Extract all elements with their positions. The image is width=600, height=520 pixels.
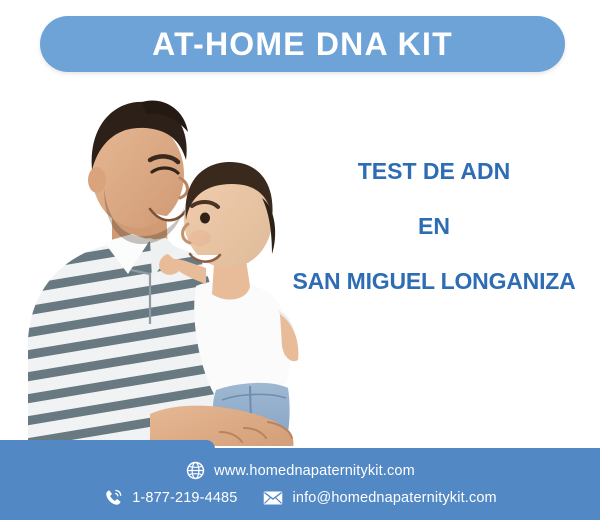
phone-icon xyxy=(103,488,123,508)
dna-test-promo-poster: AT-HOME DNA KIT xyxy=(0,0,600,520)
envelope-icon xyxy=(263,488,283,508)
footer-website-row: www.homednapaternitykit.com xyxy=(185,461,415,481)
headline-line-3-location: SAN MIGUEL LONGANIZA xyxy=(272,270,596,293)
headline-line-1: TEST DE ADN xyxy=(272,160,596,183)
email-label: info@homednapaternitykit.com xyxy=(292,490,496,506)
header-banner-pill: AT-HOME DNA KIT xyxy=(40,16,565,72)
email-item[interactable]: info@homednapaternitykit.com xyxy=(263,488,496,508)
headline-block: TEST DE ADN EN SAN MIGUEL LONGANIZA xyxy=(272,160,596,293)
globe-icon xyxy=(185,461,205,481)
header-title: AT-HOME DNA KIT xyxy=(152,28,453,60)
footer-phone-email-row: 1-877-219-4485 info@homednapaternitykit.… xyxy=(103,488,497,508)
headline-line-2: EN xyxy=(272,215,596,238)
phone-item[interactable]: 1-877-219-4485 xyxy=(103,488,237,508)
website-item[interactable]: www.homednapaternitykit.com xyxy=(185,461,415,481)
phone-label: 1-877-219-4485 xyxy=(132,490,237,506)
footer-contact-rows: www.homednapaternitykit.com 1-877-219-44… xyxy=(0,448,600,520)
website-label: www.homednapaternitykit.com xyxy=(214,463,415,479)
